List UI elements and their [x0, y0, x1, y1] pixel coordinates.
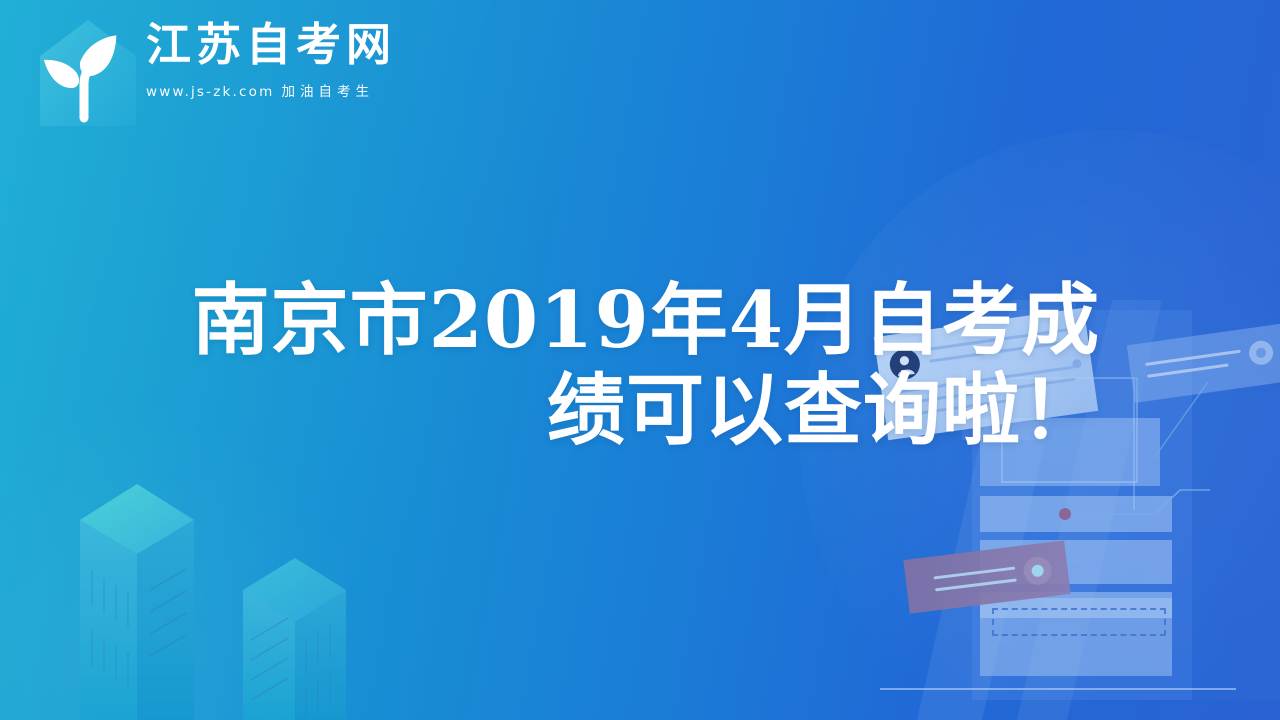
illustration-baseline [880, 688, 1236, 690]
promo-banner: 江苏自考网 www.js-zk.com加油自考生 南京市2019年4月自考成 绩… [0, 0, 1280, 720]
headline-line-2: 绩可以查询啦！ [70, 366, 1100, 456]
headline: 南京市2019年4月自考成 绩可以查询啦！ [70, 276, 1100, 457]
site-logo[interactable]: 江苏自考网 www.js-zk.com加油自考生 [34, 8, 554, 128]
logo-url: www.js-zk.com [146, 84, 274, 100]
dashed-field-box [992, 608, 1166, 636]
tag-pointer-line [1144, 378, 1234, 468]
ticket-badge-icon [1022, 555, 1053, 586]
circle-badge-icon [1248, 339, 1275, 366]
sprout-logo-icon [34, 14, 142, 126]
headline-line-1: 南京市2019年4月自考成 [70, 276, 1100, 366]
logo-text: 江苏自考网 www.js-zk.com加油自考生 [146, 22, 396, 100]
tower-short [243, 558, 346, 720]
logo-slogan: 加油自考生 [281, 84, 374, 100]
tag-line-2 [1147, 363, 1229, 377]
slab-connector [980, 478, 1210, 548]
isometric-towers-decoration [80, 470, 410, 720]
ticket-line-1 [934, 567, 1016, 580]
tower-tall [80, 484, 194, 720]
logo-title: 江苏自考网 [146, 22, 396, 67]
ticket-line-2 [935, 578, 1017, 591]
accent-dot [1059, 508, 1071, 520]
logo-subtitle: www.js-zk.com加油自考生 [146, 80, 396, 100]
sprout-svg [34, 14, 142, 126]
towers-svg [80, 470, 410, 720]
